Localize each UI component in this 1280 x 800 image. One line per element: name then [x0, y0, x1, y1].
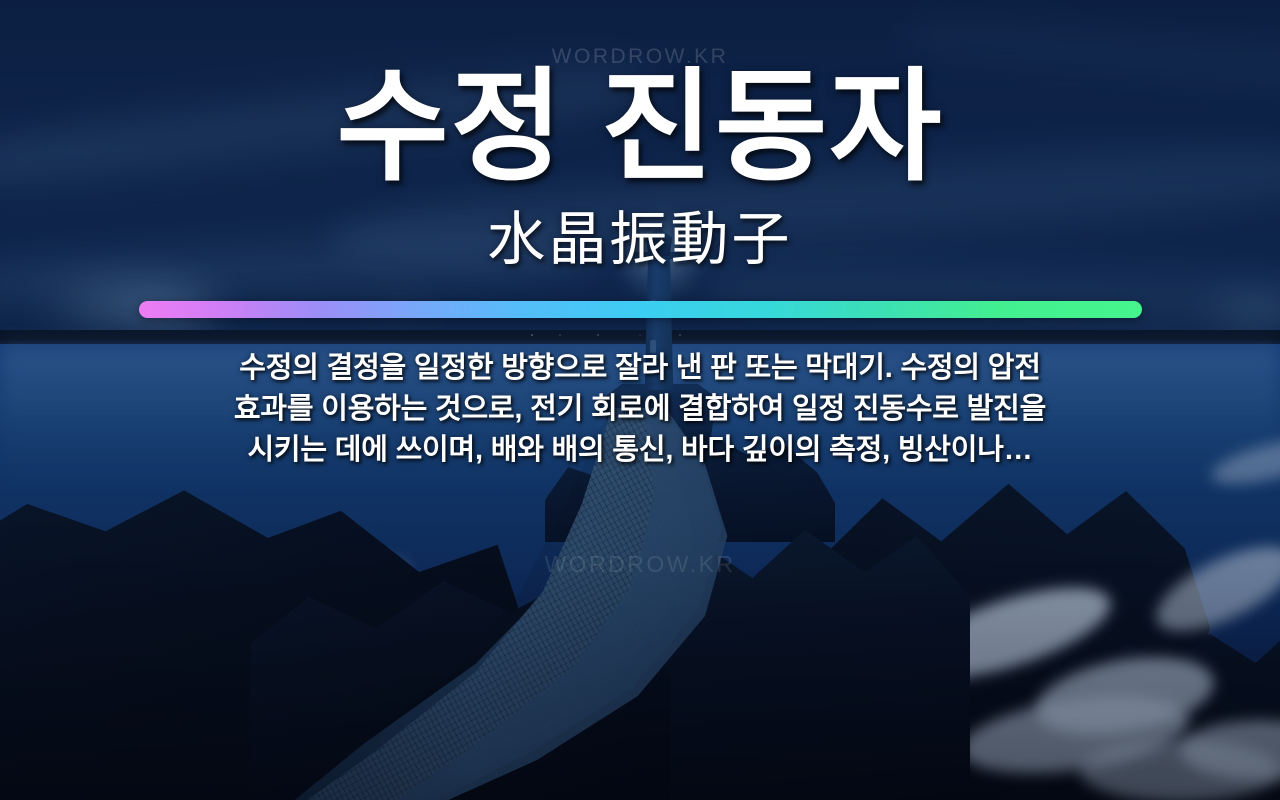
definition-line: 시키는 데에 쓰이며, 배와 배의 통신, 바다 깊이의 측정, 빙산이나…: [140, 430, 1140, 471]
card-content: 수정 진동자 水晶振動子 수정의 결정을 일정한 방향으로 잘라 낸 판 또는 …: [0, 0, 1280, 800]
gradient-divider: [139, 301, 1142, 318]
wordcard-stage: WORDROW.KR WORDROW.KR 수정 진동자 水晶振動子 수정의 결…: [0, 0, 1280, 800]
word-title: 수정 진동자: [336, 62, 943, 194]
definition-line: 수정의 결정을 일정한 방향으로 잘라 낸 판 또는 막대기. 수정의 압전: [140, 348, 1140, 389]
word-hanja-subtitle: 水晶振動子: [487, 208, 792, 272]
definition-line: 효과를 이용하는 것으로, 전기 회로에 결합하여 일정 진동수로 발진을: [140, 389, 1140, 430]
word-definition: 수정의 결정을 일정한 방향으로 잘라 낸 판 또는 막대기. 수정의 압전 효…: [140, 348, 1140, 471]
